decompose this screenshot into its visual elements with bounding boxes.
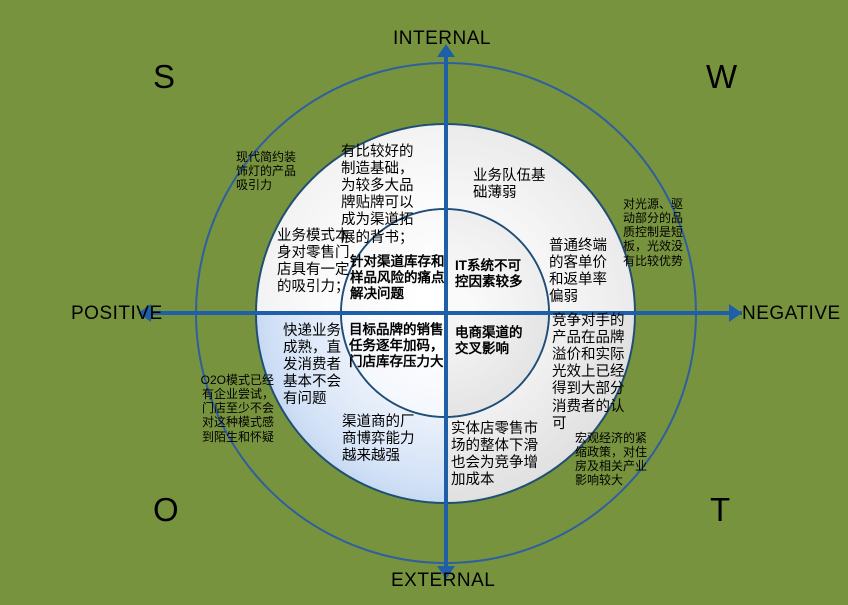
- mid-text-strengths-2: 业务模式本身对零售门店具有一定的吸引力；: [277, 228, 355, 296]
- quadrant-letter-o: O: [153, 491, 179, 529]
- mid-text-threats-1: 实体店零售市场的整体下滑也会为竞争增加成本: [451, 421, 551, 489]
- mid-text-opportunities-1: 快递业务成熟，直发消费者基本不会有问题: [283, 323, 355, 409]
- axis-label-positive: POSITIVE: [71, 303, 163, 325]
- quadrant-letter-s: S: [153, 58, 175, 96]
- inner-text-weaknesses: IT系统不可控因素较多: [455, 258, 533, 290]
- outer-text-weaknesses: 对光源、驱动部分的品质控制是短板，光效没有比较优势: [623, 197, 693, 268]
- mid-text-opportunities-2: 渠道商的厂商博弈能力越来越强: [342, 414, 420, 465]
- outer-text-threats: 宏观经济的紧缩政策，对住房及相关产业影响较大: [575, 431, 655, 488]
- mid-text-threats-2: 竞争对手的产品在品牌溢价和实际光效上已经得到大部分消费者的认可: [552, 313, 632, 433]
- axis-label-external: EXTERNAL: [391, 570, 495, 592]
- axis-label-negative: NEGATIVE: [742, 303, 841, 325]
- vertical-axis-line: [444, 52, 448, 568]
- horizontal-axis-line: [150, 311, 742, 315]
- inner-text-opportunities: 目标品牌的销售任务逐年加码，门店库存压力大: [349, 322, 445, 370]
- swot-diagram-canvas: INTERNAL EXTERNAL POSITIVE NEGATIVE S W …: [0, 0, 848, 605]
- quadrant-letter-w: W: [706, 58, 737, 96]
- outer-text-opportunities: O2O模式已经有企业尝试，门店至少不会对这种模式感到陌生和怀疑: [196, 373, 274, 444]
- quadrant-letter-t: T: [710, 491, 730, 529]
- axis-label-internal: INTERNAL: [393, 28, 491, 50]
- inner-text-strengths: 针对渠道库存和样品风险的痛点解决问题: [350, 254, 446, 302]
- mid-text-weaknesses-1: 业务队伍基础薄弱: [473, 168, 547, 202]
- outer-text-strengths: 现代简约装饰灯的产品吸引力: [236, 150, 306, 192]
- inner-text-threats: 电商渠道的交叉影响: [455, 325, 535, 357]
- arrow-right-icon: [729, 304, 742, 322]
- mid-text-weaknesses-2: 普通终端的客单价和返单率偏弱: [549, 238, 621, 306]
